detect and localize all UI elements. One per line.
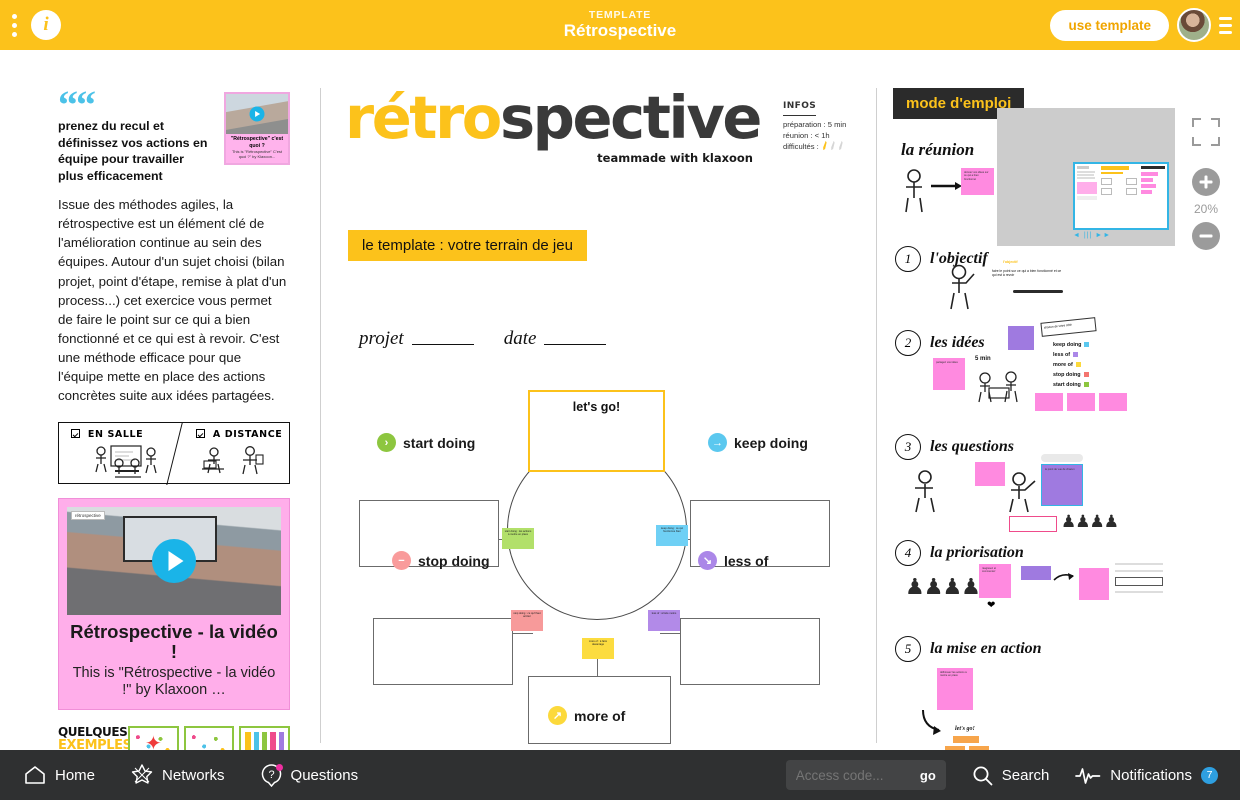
legend-label: keep doing [1053,342,1081,348]
category-label: start doing [403,435,475,451]
step-number: 3 [895,434,921,460]
step-5: 5 la mise en action [895,636,1042,662]
header-left-group: i [0,10,240,40]
video-thumb-subtitle: This is "Rétrospective" C'est quoi ?" by… [226,149,288,163]
template-kicker: TEMPLATE [240,9,1000,21]
idees-callout: chacun de votre côté [1040,317,1096,337]
modes-box: EN SALLE [58,422,290,484]
minimap-right-preview [1139,164,1167,228]
quote-text: prenez du recul et définissez vos action… [58,118,208,184]
nav-label: Networks [162,767,225,784]
legend-label: start doing [1053,382,1081,388]
go-button[interactable]: go [920,768,936,783]
mode-label-a-distance: A DISTANCE [213,429,282,440]
infos-box: INFOS préparation : 5 min réunion : < 1h… [783,100,865,153]
arrow-down-icon [919,708,953,738]
center-template-column: rétrospective teammade with klaxoon INFO… [345,88,865,748]
search-icon [972,765,993,786]
nav-networks[interactable]: Networks [131,764,225,786]
header-titles: TEMPLATE Rétrospective [240,9,1000,41]
lets-go-handwriting: let's go! [955,726,975,732]
examples-label: QUELQUES EXEMPLES [58,726,120,750]
objectif-illustration [941,260,987,312]
notifications-badge: 7 [1201,767,1218,784]
step-1-note-header: l'objectif [1003,260,1018,264]
category-label: stop doing [418,553,490,569]
stop-doing-box[interactable] [373,618,513,685]
infos-header: INFOS [783,100,816,116]
projet-label: projet [359,328,404,350]
questions-illustration-1 [907,466,947,514]
logo-part-spective: spective [500,83,760,152]
header-right-group: use template [1000,8,1240,42]
teammade-tagline: teammade with klaxoon [345,151,753,165]
nav-questions[interactable]: ? Questions [261,764,359,787]
legend-label: stop doing [1053,372,1081,378]
difficulty-pencil-empty [836,141,846,151]
sticky-note-more[interactable]: more of : à faire davantage [582,638,614,659]
sticky-note-stop[interactable]: stop doing : ce qu'il faut arrêter [511,610,543,631]
app-footer: Home Networks ? Questions go [0,750,1240,800]
video-card[interactable]: rétrospective Rétrospective - la vidéo !… [58,498,290,710]
date-label: date [504,328,537,350]
step-number: 5 [895,636,921,662]
questions-highlight-box [1009,516,1057,532]
sticky-note-action[interactable]: définissez les actions à mettre en place [937,668,973,710]
difficulty-pencil-empty [828,141,838,151]
mode-label-en-salle: EN SALLE [88,429,143,440]
category-stop-doing[interactable]: − stop doing [392,551,490,570]
notifications-label: Notifications [1110,767,1192,784]
step-title: les idées [930,334,985,352]
zoom-in-icon[interactable] [1192,168,1220,196]
step-title: la mise en action [930,640,1042,658]
more-of-icon: ↗ [548,706,567,725]
networks-icon [131,764,153,786]
zoom-out-icon[interactable] [1192,222,1220,250]
sticky-note-idees-2[interactable]: partagez vos idées [933,358,965,390]
description-text: Issue des méthodes agiles, la rétrospect… [58,195,290,406]
less-of-box[interactable] [680,618,820,685]
info-icon[interactable]: i [31,10,61,40]
footer-actions-group: go Search Notifications 7 [786,760,1240,790]
minimap-center-preview [1099,164,1139,228]
video-card-tag: rétrospective [71,511,105,520]
sticky-note-priorisation-2[interactable] [1079,568,1109,600]
category-label: more of [574,708,625,724]
legend-label: more of [1053,362,1073,368]
examples-section: QUELQUES EXEMPLES ✦ [58,726,290,750]
step-number: 4 [895,540,921,566]
letsgo-box[interactable]: let's go! [528,390,665,472]
people-group-icon: ♟♟♟♟ [905,574,980,600]
template-subtitle-band: le template : votre terrain de jeu [348,230,587,261]
sticky-note-cluster[interactable] [1099,393,1127,411]
infos-preparation: préparation : 5 min [783,119,865,130]
footer-nav-group: Home Networks ? Questions [0,764,358,787]
minimap-left-preview [1075,164,1099,228]
checkbox-a-distance[interactable] [196,429,205,438]
sticky-note-cluster[interactable] [1035,393,1063,411]
idees-legend: keep doing less of more of stop doing st… [1053,340,1089,390]
step-2: 2 les idées [895,330,985,356]
examples-label-line2: EXEMPLES [58,739,120,750]
start-doing-icon: › [377,433,396,452]
step-1-note: faire le point sur ce qui a bien fonctio… [989,266,1069,288]
minimap-pager[interactable]: ◄ ||| ►► [1073,232,1111,239]
quote-icon: ““ [58,92,214,118]
sticky-note-keep[interactable]: keep doing : ce qui fonctionne bien [656,525,688,546]
legend-label: less of [1053,352,1070,358]
sticky-note-cluster[interactable] [1067,393,1095,411]
category-label: keep doing [734,435,808,451]
example-thumb[interactable] [184,726,235,750]
difficulty-pencil-filled [820,141,830,151]
left-info-column: ““ prenez du recul et définissez vos act… [58,92,290,750]
step-3: 3 les questions [895,434,1014,460]
notifications-button[interactable]: Notifications 7 [1075,766,1218,784]
in-room-illustration [85,443,169,481]
category-start-doing[interactable]: › start doing [377,433,475,452]
sticky-note-selected[interactable]: le point de vue de chacun [1041,464,1083,506]
date-input-rule[interactable] [544,344,606,345]
remote-illustration [198,443,270,481]
hamburger-menu-icon[interactable] [1219,17,1232,34]
notifications-icon [1075,766,1101,784]
video-thumb-title: "Rétrospective" c'est quoi ? [226,134,288,149]
board-canvas[interactable]: ““ prenez du recul et définissez vos act… [0,50,1240,750]
column-divider-left [320,88,321,743]
step-title: les questions [930,438,1014,456]
infos-difficulty: difficultés : [783,141,865,152]
category-keep-doing[interactable]: → keep doing [708,433,808,452]
zoom-controls: 20% [1186,118,1226,250]
zoom-level: 20% [1186,202,1226,216]
projet-date-line: projet date [359,328,606,350]
priorisation-list [1115,558,1163,602]
example-thumb[interactable]: ✦ [128,726,179,750]
video-card-image: rétrospective [67,507,281,615]
sticky-note-questions[interactable] [975,462,1005,486]
less-of-icon: ↘ [698,551,717,570]
sticky-note-priorisation[interactable]: réagissez et commentez [979,564,1011,598]
sticky-toolbar[interactable] [1041,454,1083,462]
action-chip[interactable] [953,736,979,743]
questions-illustration-2 [1003,466,1043,514]
page-title: Rétrospective [240,21,1000,41]
quote-block: ““ prenez du recul et définissez vos act… [58,92,290,184]
access-code-input[interactable] [796,768,906,783]
nav-label: Home [55,767,95,784]
column-divider-right [876,88,877,743]
fullscreen-icon[interactable] [1192,118,1220,146]
nav-label: Questions [291,767,359,784]
step-title: la priorisation [930,544,1024,562]
example-thumb[interactable] [239,726,290,750]
search-button[interactable]: Search [972,765,1050,786]
timer-label: 5 min [975,356,991,362]
sticky-note-vote[interactable] [1021,566,1051,580]
app-header: i TEMPLATE Rétrospective use template [0,0,1240,50]
sticky-note-start[interactable]: start doing : les actions à mettre en pl… [502,528,534,549]
brainstorm-illustration [971,366,1029,404]
step-number: 1 [895,246,921,272]
sticky-note-reunion[interactable]: donnez vos idées sur ce qui a bien fonct… [961,168,994,195]
video-card-title: Rétrospective - la vidéo ! [67,622,281,663]
mode-a-distance: A DISTANCE [174,423,289,483]
letsgo-label: let's go! [530,400,663,414]
arrow-right-icon [1053,570,1077,586]
connector-stop [513,633,533,634]
step-4: 4 la priorisation [895,540,1024,566]
mode-en-salle: EN SALLE [59,423,174,483]
category-label: less of [724,553,768,569]
checkbox-en-salle[interactable] [71,429,80,438]
nav-home[interactable]: Home [24,765,95,785]
video-thumbnail-small[interactable]: "Rétrospective" c'est quoi ? This is "Ré… [224,92,290,165]
sticky-note-less[interactable]: less of : à faire moins [648,610,680,631]
search-label: Search [1002,767,1050,784]
connector-less [660,633,680,634]
use-template-button[interactable]: use template [1050,10,1169,41]
avatar[interactable] [1177,8,1211,42]
access-code-field[interactable]: go [786,760,946,790]
svg-text:?: ? [268,769,274,781]
step-1-underline [1013,290,1063,293]
minimap-viewport[interactable] [1073,162,1169,230]
kebab-menu-icon[interactable] [12,14,17,37]
logo-part-retro: rétro [345,83,500,152]
keep-doing-icon: → [708,433,727,452]
stop-doing-icon: − [392,551,411,570]
step-number: 2 [895,330,921,356]
projet-input-rule[interactable] [412,344,474,345]
play-icon[interactable] [152,539,196,583]
infos-difficulty-label: difficultés : [783,142,819,151]
examples-grid: ✦ [128,726,290,750]
infos-reunion: réunion : < 1h [783,130,865,141]
sticky-note-idees[interactable] [1008,326,1034,350]
video-thumb-image [226,94,288,134]
category-less-of[interactable]: ↘ less of [698,551,768,570]
video-card-subtitle: This is "Rétrospective - la vidéo !" by … [67,665,281,698]
home-icon [24,765,46,785]
category-more-of[interactable]: ↗ more of [548,706,625,725]
examples-label-line1: QUELQUES [58,726,120,739]
heart-icon: ❤ [987,600,995,611]
questions-badge-dot [276,764,283,771]
section-la-reunion: la réunion [901,140,974,160]
people-icons: ♟♟♟♟ [1061,512,1118,532]
